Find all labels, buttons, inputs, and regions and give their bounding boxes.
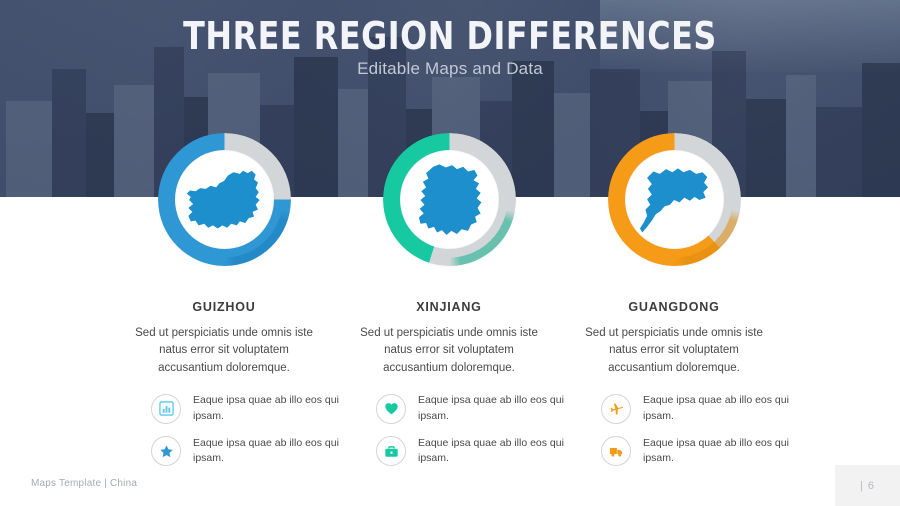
- region-title: GUANGDONG: [538, 300, 810, 314]
- map-silhouette-xinjiang: [409, 162, 489, 238]
- page-number: | 6: [860, 480, 875, 492]
- title-block: THREE REGION DIFFERENCES Editable Maps a…: [0, 16, 900, 79]
- map-silhouette-guizhou: [184, 162, 264, 238]
- briefcase-icon: [376, 436, 406, 466]
- feature-list: Eaque ipsa quae ab illo eos qui ipsam. E…: [538, 393, 810, 466]
- feature-item[interactable]: Eaque ipsa quae ab illo eos qui ipsam.: [601, 436, 810, 466]
- footer-caption: Maps Template | China: [31, 478, 137, 489]
- region-column-guangdong: GUANGDONG Sed ut perspiciatis unde omnis…: [538, 133, 810, 478]
- map-silhouette-guangdong: [634, 162, 714, 238]
- heart-icon: [376, 394, 406, 424]
- map-path: [640, 168, 708, 232]
- page-number-box: | 6: [835, 465, 900, 506]
- region-description: Sed ut perspiciatis unde omnis iste natu…: [351, 325, 547, 377]
- region-description: Sed ut perspiciatis unde omnis iste natu…: [126, 325, 322, 377]
- donut-center: [400, 150, 499, 249]
- bar-chart-icon: [151, 394, 181, 424]
- map-path: [419, 164, 482, 234]
- page-title: THREE REGION DIFFERENCES: [32, 16, 869, 57]
- region-description: Sed ut perspiciatis unde omnis iste natu…: [576, 325, 772, 377]
- feature-text: Eaque ipsa quae ab illo eos qui ipsam.: [643, 436, 810, 466]
- donut-center: [625, 150, 724, 249]
- airplane-icon: [601, 394, 631, 424]
- map-path: [187, 170, 260, 228]
- donut-chart-xinjiang[interactable]: [383, 133, 516, 266]
- donut-chart-guizhou[interactable]: [158, 133, 291, 266]
- slide: THREE REGION DIFFERENCES Editable Maps a…: [0, 0, 900, 506]
- feature-item[interactable]: Eaque ipsa quae ab illo eos qui ipsam.: [601, 393, 810, 423]
- donut-chart-guangdong[interactable]: [608, 133, 741, 266]
- feature-text: Eaque ipsa quae ab illo eos qui ipsam.: [643, 393, 810, 423]
- donut-center: [175, 150, 274, 249]
- truck-icon: [601, 436, 631, 466]
- page-subtitle: Editable Maps and Data: [0, 59, 900, 79]
- star-icon: [151, 436, 181, 466]
